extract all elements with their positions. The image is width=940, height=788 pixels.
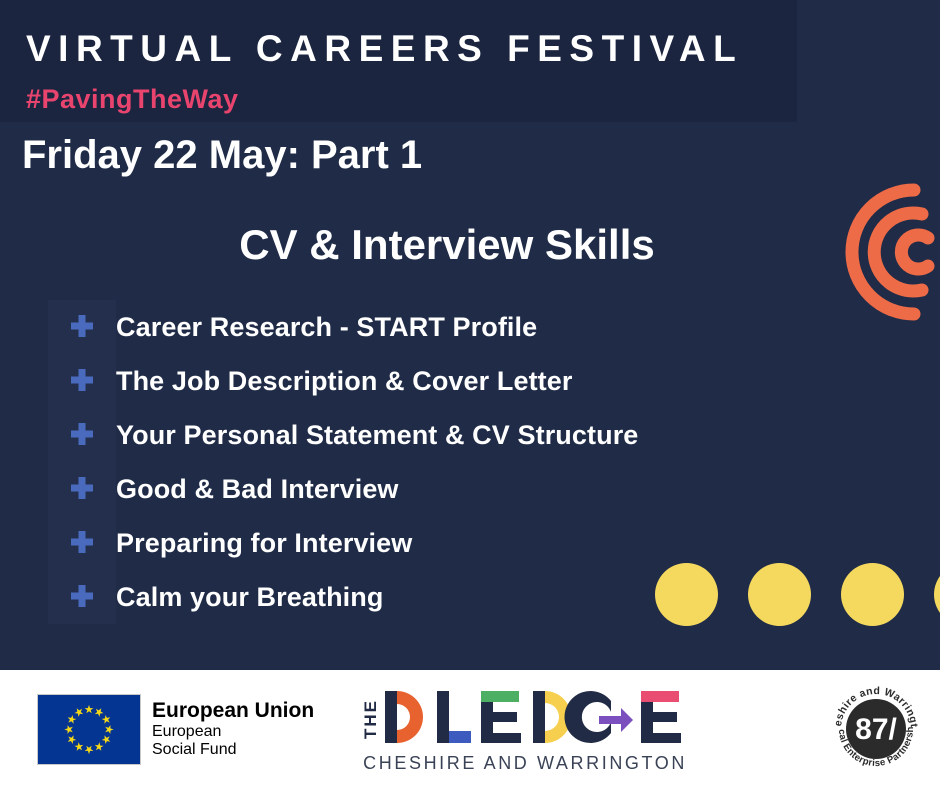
plus-icon: [48, 584, 116, 610]
event-kicker: VIRTUAL CAREERS FESTIVAL: [26, 28, 743, 70]
european-union-logo: European Union European Social Fund: [37, 694, 314, 765]
plus-icon: [48, 530, 116, 556]
list-item: Your Personal Statement & CV Structure: [48, 408, 908, 462]
pledge-the-label: THE: [343, 711, 399, 727]
list-item: Preparing for Interview: [48, 516, 908, 570]
list-item: Calm your Breathing: [48, 570, 908, 624]
list-item: The Job Description & Cover Letter: [48, 354, 908, 408]
list-item: Career Research - START Profile: [48, 300, 908, 354]
plus-icon: [48, 368, 116, 394]
list-item-label: Career Research - START Profile: [116, 312, 537, 343]
topic-list: Career Research - START Profile The Job …: [48, 300, 908, 624]
list-item-label: Preparing for Interview: [116, 528, 412, 559]
plus-icon: [48, 314, 116, 340]
eu-subtitle-line1: European: [152, 723, 314, 741]
footer-logo-bar: European Union European Social Fund THE: [0, 670, 940, 788]
list-item-label: Your Personal Statement & CV Structure: [116, 420, 638, 451]
svg-text:87/: 87/: [855, 713, 897, 746]
event-dateline: Friday 22 May: Part 1: [22, 133, 422, 178]
pledge-wordmark-row: THE: [363, 685, 685, 747]
decor-dot: [934, 563, 940, 626]
list-item-label: Good & Bad Interview: [116, 474, 399, 505]
campaign-hashtag: #PavingTheWay: [26, 84, 239, 115]
plus-icon: [48, 422, 116, 448]
eu-subtitle-line2: Social Fund: [152, 741, 314, 759]
poster-canvas: VIRTUAL CAREERS FESTIVAL #PavingTheWay F…: [0, 0, 940, 788]
eu-title: European Union: [152, 699, 314, 723]
pledge-subtitle: CHESHIRE AND WARRINGTON: [363, 753, 685, 774]
european-union-text: European Union European Social Fund: [152, 699, 314, 759]
european-union-flag-icon: [37, 694, 141, 765]
plus-icon: [48, 476, 116, 502]
lep-badge-icon: Cheshire and Warrington Local Enterprise…: [828, 681, 924, 777]
pledge-wordmark-icon: [383, 687, 683, 747]
page-title: CV & Interview Skills: [0, 221, 940, 269]
pledge-letters: [383, 687, 683, 747]
pledge-logo: THE: [363, 685, 685, 774]
list-item: Good & Bad Interview: [48, 462, 908, 516]
list-item-label: Calm your Breathing: [116, 582, 383, 613]
list-item-label: The Job Description & Cover Letter: [116, 366, 572, 397]
